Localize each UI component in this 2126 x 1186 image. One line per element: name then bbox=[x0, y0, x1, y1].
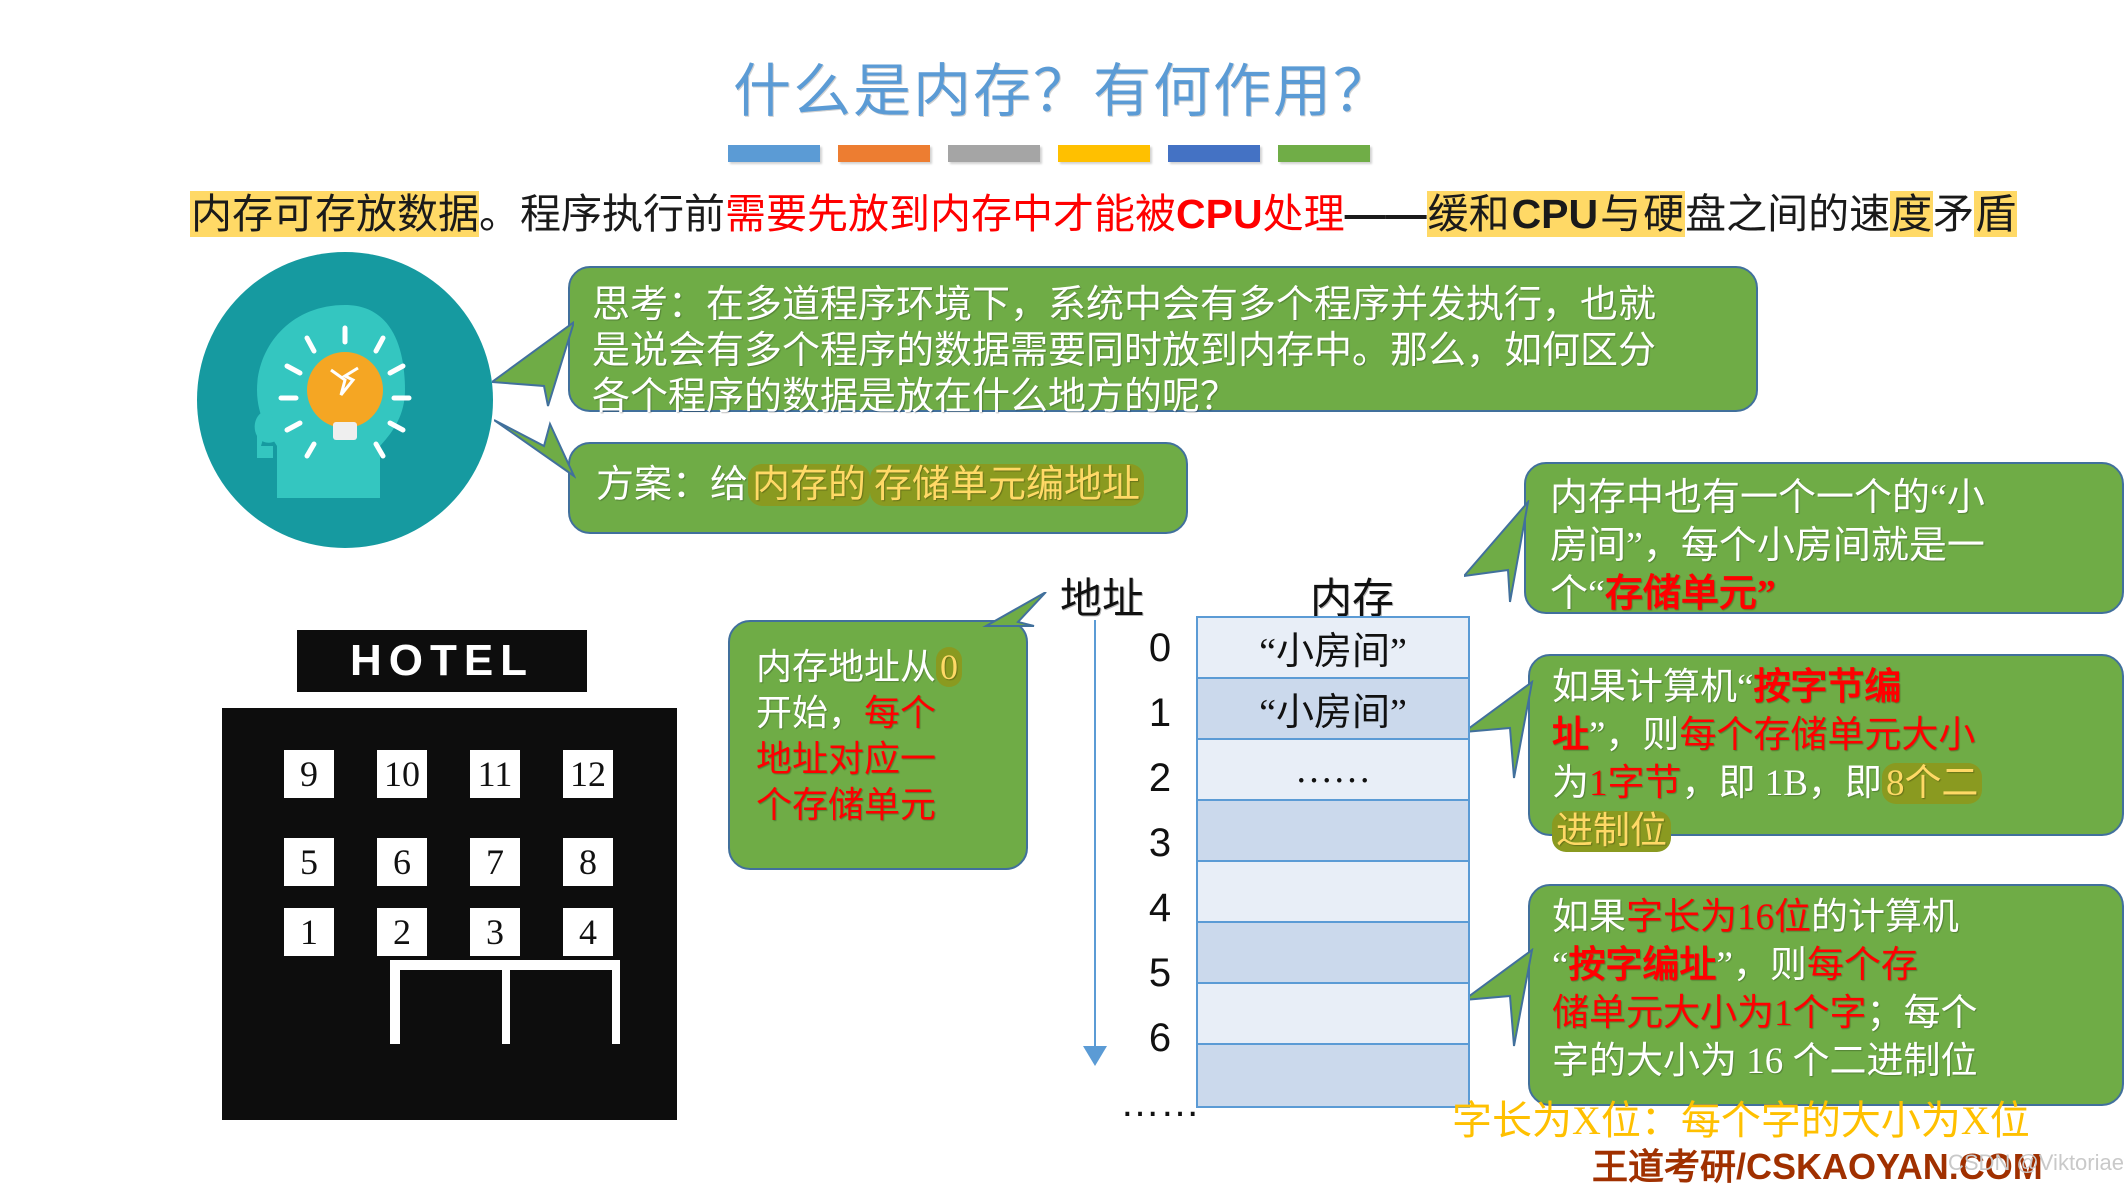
callout-room-p5: ” bbox=[1757, 573, 1776, 615]
callout-tail-room bbox=[1464, 500, 1530, 610]
address-value: 5 bbox=[1130, 941, 1190, 1006]
accent-bar-3 bbox=[948, 145, 1040, 162]
callout-byte-p10: 进制位 bbox=[1552, 811, 1671, 852]
headline-seg-11: 硬 bbox=[1642, 191, 1685, 237]
callout-byte-p1: 如果计算机“ bbox=[1552, 667, 1753, 708]
hotel-room-10: 10 bbox=[377, 750, 427, 798]
callout-byte-line2: 址”，则每个存储单元大小 bbox=[1552, 712, 2100, 760]
headline-seg-2: 存放数据 bbox=[315, 191, 479, 237]
callout-address-info: 内存地址从0开始，每个地址对应一个存储单元 bbox=[728, 620, 1028, 870]
callout-plan: 方案：给内存的存储单元编地址 bbox=[568, 442, 1188, 534]
headline-seg-10: 与 bbox=[1599, 191, 1642, 237]
address-value: 3 bbox=[1130, 811, 1190, 876]
callout-word-line1: 如果字长为16位的计算机 bbox=[1552, 894, 2100, 942]
accent-bar-2 bbox=[838, 145, 930, 162]
headline-seg-9: CPU bbox=[1511, 191, 1600, 237]
headline-seg-6: 处理 bbox=[1263, 191, 1345, 237]
callout-address-p3: 每个 bbox=[864, 693, 936, 733]
headline-seg-3: 。程序执行前 bbox=[479, 191, 725, 237]
address-direction-arrow-icon bbox=[1083, 1046, 1107, 1066]
memory-cell bbox=[1198, 862, 1468, 923]
callout-room-p4: 存储单元 bbox=[1605, 573, 1757, 615]
memory-cell: …… bbox=[1198, 740, 1468, 801]
callout-word-p5: 按字编址 bbox=[1568, 945, 1716, 986]
callout-byte-line1: 如果计算机“按字节编 bbox=[1552, 664, 2100, 712]
callout-plan-prefix: 方案：给 bbox=[596, 464, 748, 506]
callout-room-p3: 个“ bbox=[1550, 573, 1605, 615]
memory-cell-table: “小房间” “小房间” …… bbox=[1196, 616, 1470, 1108]
hotel-room-5: 5 bbox=[284, 838, 334, 886]
address-value: …… bbox=[1130, 1071, 1190, 1136]
callout-word-p6: ”，则 bbox=[1716, 945, 1806, 986]
callout-address-p5: 个存储单元 bbox=[756, 785, 936, 825]
callout-byte-p8: ，即 1B，即 bbox=[1682, 763, 1882, 804]
accent-bar-6 bbox=[1278, 145, 1370, 162]
hotel-door-right bbox=[510, 970, 612, 1044]
address-value: 6 bbox=[1130, 1006, 1190, 1071]
callout-byte-p2: 按字节编 bbox=[1753, 667, 1901, 708]
callout-address-zero: 0 bbox=[936, 647, 962, 687]
callout-word-line4: 字的大小为 16 个二进制位 bbox=[1552, 1038, 2100, 1086]
callout-address-p2: 开始， bbox=[756, 693, 864, 733]
callout-thinking-line1: 思考：在多道程序环境下，系统中会有多个程序并发执行，也就 bbox=[592, 282, 1734, 328]
accent-bar-5 bbox=[1168, 145, 1260, 162]
headline-seg-2-wrap: 存放数据 bbox=[315, 191, 479, 237]
address-number-column: 0 1 2 3 4 5 6 …… bbox=[1130, 616, 1190, 1136]
callout-address-text: 内存地址从0开始，每个地址对应一个存储单元 bbox=[756, 644, 1000, 828]
callout-byte-addressing: 如果计算机“按字节编 址”，则每个存储单元大小 为1字节，即 1B，即8个二 进… bbox=[1528, 654, 2124, 836]
accent-bar-4 bbox=[1058, 145, 1150, 162]
memory-cell bbox=[1198, 984, 1468, 1045]
headline-seg-8: 缓和 bbox=[1427, 191, 1511, 237]
headline-seg-14: 矛 bbox=[1933, 191, 1974, 237]
headline-seg-12: 盘之间的速 bbox=[1685, 191, 1890, 237]
callout-tail-address bbox=[982, 592, 1054, 652]
brain-lightbulb-icon bbox=[195, 250, 495, 550]
callout-tail-byte bbox=[1464, 680, 1534, 784]
hotel-room-2: 2 bbox=[377, 908, 427, 956]
page-title: 什么是内存？有何作用？ bbox=[0, 44, 2126, 128]
headline-seg-15: 盾 bbox=[1974, 191, 2017, 237]
callout-plan-hl1: 内存的 bbox=[748, 464, 870, 506]
callout-word-p2: 字长为16位 bbox=[1626, 897, 1811, 938]
callout-tail-word bbox=[1464, 948, 1534, 1052]
callout-room-line1: 内存中也有一个一个的“小 bbox=[1550, 474, 2098, 522]
callout-byte-p9: 8个二 bbox=[1882, 763, 1983, 804]
callout-byte-p3: 址 bbox=[1552, 715, 1589, 756]
callout-thinking-line2: 是说会有多个程序的数据需要同时放到内存中。那么，如何区分 bbox=[592, 328, 1734, 374]
watermark-label: CSDN @Viktoriae bbox=[1948, 1150, 2124, 1176]
callout-byte-p4: ”，则 bbox=[1589, 715, 1679, 756]
hotel-room-4: 4 bbox=[563, 908, 613, 956]
slide-canvas: 什么是内存？有何作用？ 内存可存放数据。程序执行前需要先放到内存中才能被CPU处… bbox=[0, 0, 2126, 1186]
callout-word-p3: 的计算机 bbox=[1811, 897, 1959, 938]
accent-bar-1 bbox=[728, 145, 820, 162]
hotel-room-9: 9 bbox=[284, 750, 334, 798]
callout-plan-text: 方案：给内存的存储单元编地址 bbox=[596, 462, 1160, 508]
headline-seg-1: 内存可 bbox=[190, 191, 315, 237]
callout-word-p9: 1个字 bbox=[1774, 993, 1867, 1034]
hotel-room-3: 3 bbox=[470, 908, 520, 956]
callout-room-line2: 房间”，每个小房间就是一 bbox=[1550, 522, 2098, 570]
hotel-room-8: 8 bbox=[563, 838, 613, 886]
callout-tail-plan bbox=[494, 416, 576, 486]
hotel-room-7: 7 bbox=[470, 838, 520, 886]
memory-cell bbox=[1198, 923, 1468, 984]
callout-byte-p5: 每个存储单元大小 bbox=[1679, 715, 1975, 756]
headline-seg-4: 需要先放到内存中才能被 bbox=[725, 191, 1176, 237]
callout-word-p7: 每个存 bbox=[1807, 945, 1918, 986]
callout-address-p4: 地址对应一 bbox=[756, 739, 936, 779]
headline-seg-7: —— bbox=[1345, 191, 1427, 237]
hotel-room-1: 1 bbox=[284, 908, 334, 956]
callout-byte-p6: 为 bbox=[1552, 763, 1589, 804]
address-value: 4 bbox=[1130, 876, 1190, 941]
hotel-room-6: 6 bbox=[377, 838, 427, 886]
callout-byte-line3: 为1字节，即 1B，即8个二 bbox=[1552, 760, 2100, 808]
callout-thinking: 思考：在多道程序环境下，系统中会有多个程序并发执行，也就 是说会有多个程序的数据… bbox=[568, 266, 1758, 412]
callout-byte-p7: 1字节 bbox=[1589, 763, 1682, 804]
callout-storage-unit: 内存中也有一个一个的“小 房间”，每个小房间就是一 个“存储单元” bbox=[1524, 462, 2124, 614]
accent-bar-row bbox=[728, 145, 1370, 162]
callout-word-line2: “按字编址”，则每个存 bbox=[1552, 942, 2100, 990]
callout-word-line3: 储单元大小为1个字；每个 bbox=[1552, 990, 2100, 1038]
headline-seg-13: 度 bbox=[1890, 191, 1933, 237]
memory-cell bbox=[1198, 1045, 1468, 1106]
address-direction-line bbox=[1094, 620, 1096, 1050]
callout-word-addressing: 如果字长为16位的计算机 “按字编址”，则每个存 储单元大小为1个字；每个 字的… bbox=[1528, 884, 2124, 1106]
callout-word-p1: 如果 bbox=[1552, 897, 1626, 938]
address-value: 2 bbox=[1130, 746, 1190, 811]
callout-word-p10: ；每个 bbox=[1867, 993, 1978, 1034]
hotel-illustration: HOTEL 9 10 11 12 5 6 7 8 1 2 3 4 bbox=[222, 630, 677, 1120]
callout-word-p8: 储单元大小为 bbox=[1552, 993, 1774, 1034]
memory-cell: “小房间” bbox=[1198, 679, 1468, 740]
callout-plan-hl2: 存储单元编地址 bbox=[870, 464, 1144, 506]
hotel-room-11: 11 bbox=[470, 750, 520, 798]
memory-cell bbox=[1198, 801, 1468, 862]
callout-tail-think bbox=[492, 320, 574, 408]
memory-cell: “小房间” bbox=[1198, 618, 1468, 679]
hotel-door-left bbox=[400, 970, 502, 1044]
callout-byte-line4: 进制位 bbox=[1552, 808, 2100, 856]
address-value: 1 bbox=[1130, 681, 1190, 746]
hotel-room-12: 12 bbox=[563, 750, 613, 798]
headline-sentence: 内存可存放数据。程序执行前需要先放到内存中才能被CPU处理——缓和CPU与硬盘之… bbox=[190, 186, 2030, 242]
headline-seg-5: CPU bbox=[1176, 191, 1263, 237]
callout-room-line3: 个“存储单元” bbox=[1550, 570, 2098, 618]
callout-thinking-line3: 各个程序的数据是放在什么地方的呢？ bbox=[592, 374, 1734, 420]
callout-address-p1: 内存地址从 bbox=[756, 647, 936, 687]
address-value: 0 bbox=[1130, 616, 1190, 681]
hotel-sign: HOTEL bbox=[297, 630, 587, 692]
callout-word-p4: “ bbox=[1552, 945, 1568, 986]
